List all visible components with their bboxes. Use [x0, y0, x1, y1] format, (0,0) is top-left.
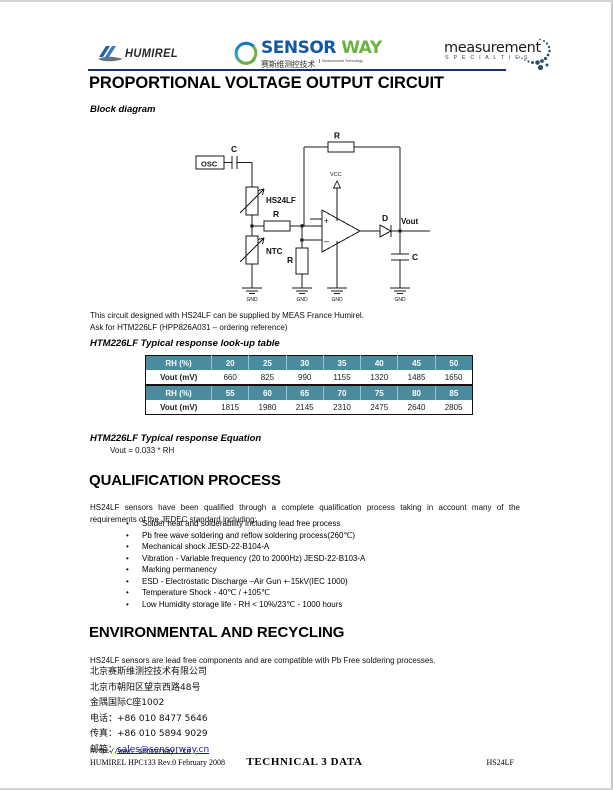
list-item: Low Humidity storage life - RH < 10%/23℃… — [126, 599, 546, 611]
cell-rh2-4: 75 — [361, 385, 398, 400]
footer-center: TECHNICAL 3 DATA — [0, 756, 609, 768]
circuit-label-vcc: VCC — [330, 172, 342, 178]
sensorway-word-sensor: SENSOR — [261, 38, 336, 58]
cell-vout1-4: 1320 — [361, 370, 398, 385]
block-diagram-figure: OSC C HS24LF NTC R R R VCC D C Vout + – … — [190, 130, 435, 312]
opamp-plus-sign: + — [324, 217, 329, 226]
qualification-heading: QUALIFICATION PROCESS — [89, 472, 281, 489]
cell-rh1-3: 35 — [323, 356, 360, 371]
circuit-schematic: OSC C HS24LF NTC R R R VCC D C Vout + – … — [190, 130, 435, 312]
sensorway-ring-icon — [232, 41, 258, 67]
cell-vout2-4: 2475 — [361, 400, 398, 415]
row-label-vout: Vout (mV) — [146, 370, 212, 385]
cell-vout1-2: 990 — [286, 370, 323, 385]
circuit-label-r-series: R — [273, 209, 279, 219]
document-page: HUMIREL SENSOR WAY 赛斯维测控技术 Measurement T… — [0, 0, 613, 790]
contact-fax-value: +86 010 5894 9029 — [117, 729, 208, 739]
circuit-label-gnd-1: GND — [246, 297, 258, 303]
lookup-table-wrap: RH (%) 20 25 30 35 40 45 50 Vout (mV) 66… — [145, 355, 473, 415]
circuit-label-r-divider: R — [287, 255, 293, 265]
cell-vout1-6: 1650 — [435, 370, 472, 385]
circuit-label-gnd-3: GND — [331, 297, 343, 303]
page-footer: HUMIREL HPC133 Rev.0 February 2008 TECHN… — [0, 758, 609, 772]
logo-row: HUMIREL SENSOR WAY 赛斯维测控技术 Measurement T… — [0, 16, 609, 66]
cell-vout2-6: 2805 — [435, 400, 472, 415]
contact-phone-row: 电话：+86 010 8477 5646 — [90, 712, 209, 728]
circuit-label-c-out: C — [412, 252, 418, 262]
environmental-heading: ENVIRONMENTAL AND RECYCLING — [89, 624, 344, 641]
equation-title: HTM226LF Typical response Equation — [90, 433, 261, 444]
cell-vout2-1: 1980 — [249, 400, 286, 415]
meas-dots-icon — [516, 38, 558, 74]
sensorway-logo: SENSOR WAY 赛斯维测控技术 Measurement Technolog… — [232, 38, 354, 72]
contact-fax-label: 传真： — [90, 729, 117, 739]
cell-rh1-1: 25 — [249, 356, 286, 371]
circuit-label-gnd-4: GND — [394, 297, 406, 303]
contact-fax-row: 传真：+86 010 5894 9029 — [90, 727, 209, 743]
equation-body: Vout = 0.033 * RH — [110, 445, 174, 457]
cell-vout2-3: 2310 — [323, 400, 360, 415]
list-item: Marking permanency — [126, 564, 546, 576]
qualification-list: Solder heat and solderability including … — [112, 518, 546, 610]
humirel-wordmark: HUMIREL — [125, 48, 178, 60]
cell-vout1-0: 660 — [212, 370, 249, 385]
block-diagram-label: Block diagram — [90, 104, 155, 115]
list-item: Mechanical shock JESD-22-B104-A — [126, 541, 546, 553]
cell-rh2-6: 85 — [435, 385, 472, 400]
cell-rh2-2: 65 — [286, 385, 323, 400]
humirel-logo: HUMIREL — [97, 44, 203, 66]
cell-rh1-2: 30 — [286, 356, 323, 371]
contact-company: 北京赛斯维测控技术有限公司 — [90, 665, 209, 681]
contact-url: http://www. sensorway. cn — [90, 747, 190, 755]
cell-vout1-5: 1485 — [398, 370, 435, 385]
row-label-rh-2: RH (%) — [146, 385, 212, 400]
cell-rh1-4: 40 — [361, 356, 398, 371]
contact-block: 北京赛斯维测控技术有限公司 北京市朝阳区望京西路48号 金隅国际C座1002 电… — [90, 665, 209, 759]
sensorway-word-way: WAY — [341, 38, 381, 58]
contact-phone-label: 电话： — [90, 714, 117, 724]
lookup-table: RH (%) 20 25 30 35 40 45 50 Vout (mV) 66… — [145, 355, 473, 415]
cell-vout1-3: 1155 — [323, 370, 360, 385]
circuit-label-hs24lf: HS24LF — [266, 196, 296, 205]
list-item: Solder heat and solderability including … — [126, 518, 546, 530]
row-label-vout-2: Vout (mV) — [146, 400, 212, 415]
cell-vout2-2: 2145 — [286, 400, 323, 415]
sensorway-tagline: Measurement Technology — [319, 59, 363, 63]
table-row-rh-2: RH (%) 55 60 65 70 75 80 85 — [146, 385, 473, 400]
footer-right: HS24LF — [486, 758, 514, 767]
table-row-vout-1: Vout (mV) 660 825 990 1155 1320 1485 165… — [146, 370, 473, 385]
humirel-mark-icon — [97, 44, 125, 64]
contact-address-1: 北京市朝阳区望京西路48号 — [90, 681, 209, 697]
list-item: Vibration - Variable frequency (20 to 20… — [126, 553, 546, 565]
circuit-label-gnd-2: GND — [296, 297, 308, 303]
table-row-vout-2: Vout (mV) 1815 1980 2145 2310 2475 2640 … — [146, 400, 473, 415]
list-item: ESD - Electrostatic Discharge –Air Gun +… — [126, 576, 546, 588]
supply-note: This circuit designed with HS24LF can be… — [90, 310, 520, 333]
cell-rh1-6: 50 — [435, 356, 472, 371]
list-item: Temperature Shock - 40℃ / +105℃ — [126, 587, 546, 599]
cell-vout2-5: 2640 — [398, 400, 435, 415]
circuit-label-ntc: NTC — [266, 247, 283, 256]
sensorway-wordmark: SENSOR WAY — [261, 40, 382, 57]
opamp-minus-sign: – — [324, 236, 329, 246]
lookup-table-title: HTM226LF Typical response look-up table — [90, 338, 280, 349]
cell-rh2-1: 60 — [249, 385, 286, 400]
circuit-label-c-top: C — [231, 144, 237, 154]
cell-rh2-5: 80 — [398, 385, 435, 400]
cell-rh1-5: 45 — [398, 356, 435, 371]
cell-vout1-1: 825 — [249, 370, 286, 385]
list-item: Pb free wave soldering and reflow solder… — [126, 530, 546, 542]
cell-rh2-0: 55 — [212, 385, 249, 400]
title-divider — [88, 69, 506, 71]
contact-phone-value: +86 010 8477 5646 — [117, 714, 208, 724]
row-label-rh: RH (%) — [146, 356, 212, 371]
contact-address-2: 金隅国际C座1002 — [90, 696, 209, 712]
table-row-rh-1: RH (%) 20 25 30 35 40 45 50 — [146, 356, 473, 371]
cell-rh2-3: 70 — [323, 385, 360, 400]
cell-rh1-0: 20 — [212, 356, 249, 371]
circuit-label-osc: OSC — [201, 160, 218, 169]
circuit-label-d: D — [382, 213, 388, 223]
circuit-label-r-feedback: R — [334, 131, 340, 141]
cell-vout2-0: 1815 — [212, 400, 249, 415]
circuit-label-vout: Vout — [401, 217, 419, 226]
page-title: PROPORTIONAL VOLTAGE OUTPUT CIRCUIT — [89, 74, 444, 93]
